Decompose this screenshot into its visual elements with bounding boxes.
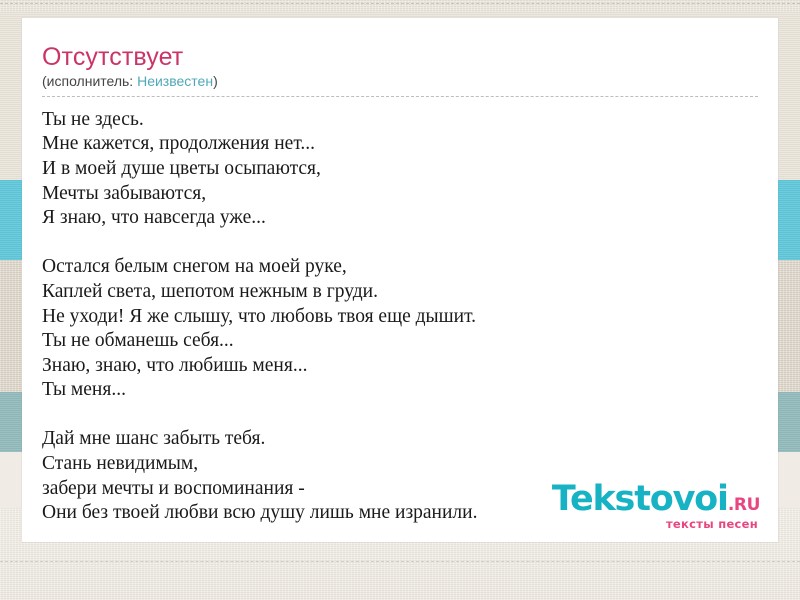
lyrics-text: Ты не здесь. Мне кажется, продолжения не… — [22, 97, 778, 526]
site-logo-watermark: Tekstovoi.RU тексты песен — [552, 483, 760, 530]
page-title: Отсутствует — [42, 44, 758, 70]
song-header: Отсутствует (исполнитель: Неизвестен) — [22, 18, 778, 97]
artist-label: (исполнитель: — [42, 73, 137, 89]
logo-tld: .RU — [728, 497, 760, 513]
artist-paren-close: ) — [213, 73, 218, 89]
logo-wordmark: Tekstovoi — [552, 483, 728, 516]
artist-link[interactable]: Неизвестен — [137, 73, 213, 89]
lyrics-card: Отсутствует (исполнитель: Неизвестен) Ты… — [22, 18, 778, 542]
artist-line: (исполнитель: Неизвестен) — [42, 73, 758, 97]
page-bottom-divider — [0, 561, 800, 562]
page-top-divider — [0, 3, 800, 4]
logo-tagline: тексты песен — [552, 519, 760, 531]
